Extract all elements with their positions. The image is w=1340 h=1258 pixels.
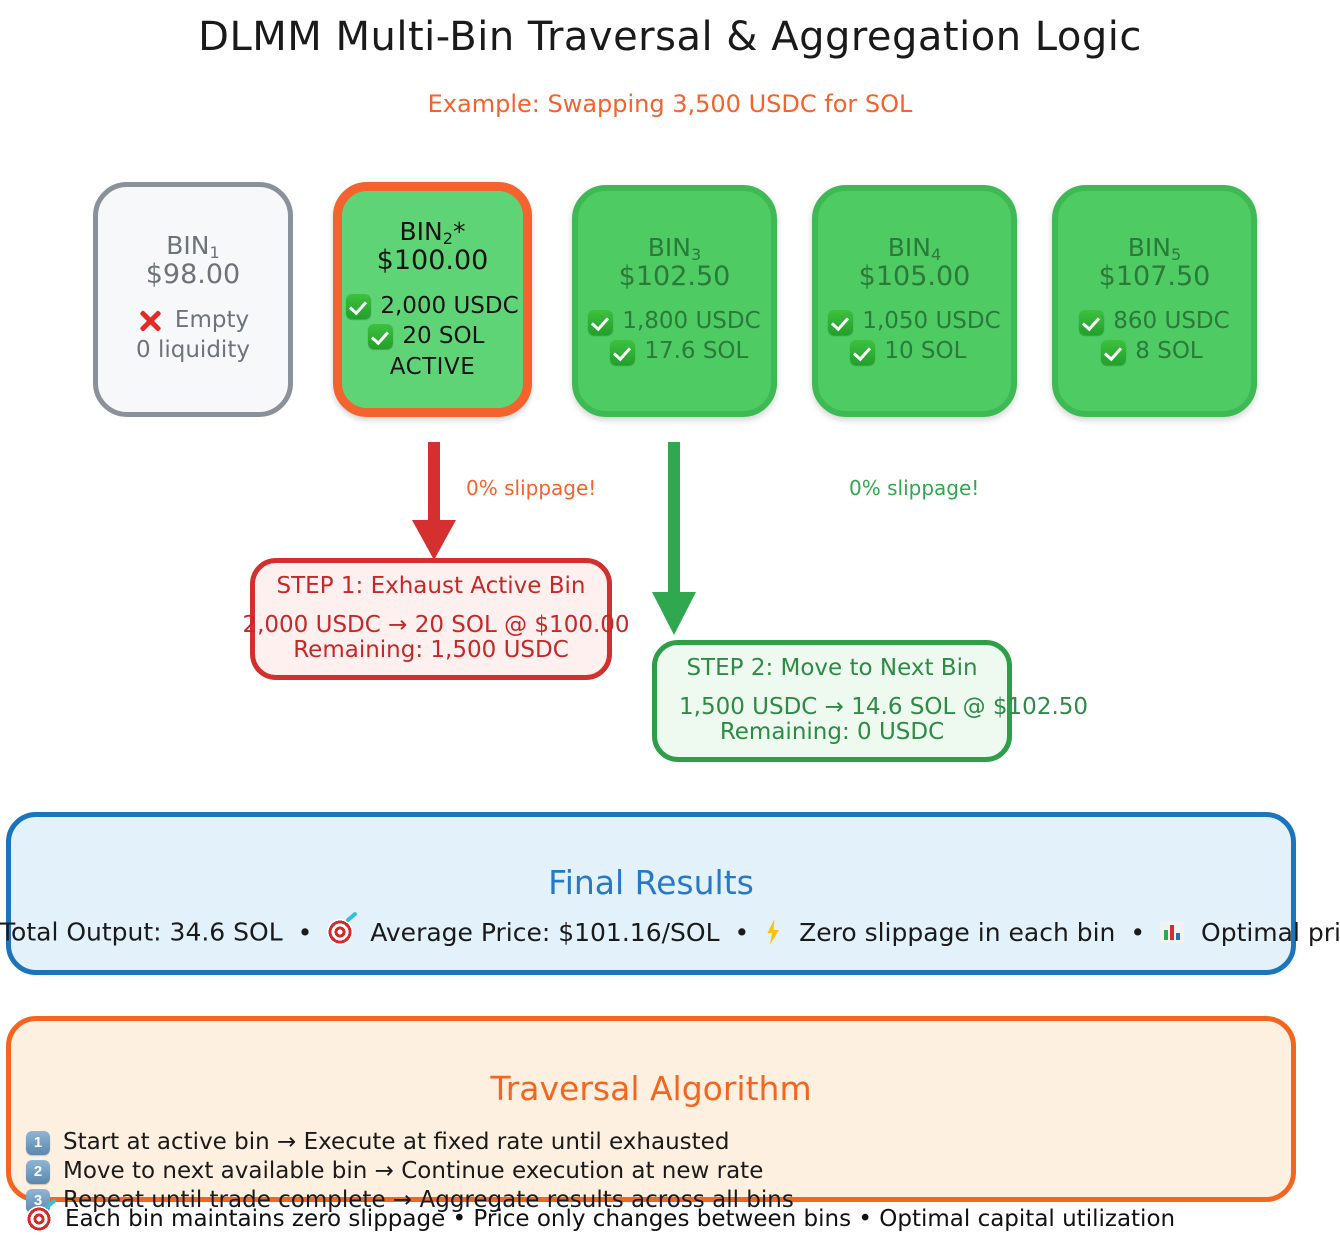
bin-4-row-usdc-label: 1,050 USDC xyxy=(862,307,1000,337)
bin-4-label: BIN4 xyxy=(888,235,941,264)
final-results-panel: Final Results xyxy=(6,812,1296,975)
check-icon xyxy=(850,340,875,365)
check-icon xyxy=(828,310,853,335)
bin-3-row-usdc-label: 1,800 USDC xyxy=(622,307,760,337)
step-1-detail: 2,000 USDC → 20 SOL @ $100.00 xyxy=(229,610,643,642)
bin-card-2[interactable]: BIN2* $100.00 2,000 USDC 20 SOL ACTIVE xyxy=(333,182,532,417)
bin-1-row-liquidity: 0 liquidity xyxy=(136,336,250,366)
step-2-title: STEP 2: Move to Next Bin xyxy=(686,653,977,685)
bin-card-3[interactable]: BIN3 $102.50 1,800 USDC 17.6 SOL xyxy=(572,185,777,417)
bin-3-label: BIN3 xyxy=(648,235,701,264)
traversal-algorithm-footer-label: Each bin maintains zero slippage • Price… xyxy=(65,1206,1175,1232)
bin-3-row-usdc: 1,800 USDC xyxy=(588,307,760,337)
results-separator: • xyxy=(291,918,320,947)
traversal-algorithm-title: Traversal Algorithm xyxy=(11,1069,1291,1108)
results-separator: • xyxy=(1123,918,1152,947)
final-result-average-price: Average Price: $101.16/SOL xyxy=(361,918,719,947)
results-separator: • xyxy=(727,918,756,947)
bin-1-label: BIN1 xyxy=(166,233,219,262)
bin-5-row-usdc: 860 USDC xyxy=(1079,307,1229,337)
bin-5-rows: 860 USDC 8 SOL xyxy=(1079,307,1229,367)
final-results-title: Final Results xyxy=(11,863,1291,902)
bin-3-rows: 1,800 USDC 17.6 SOL xyxy=(588,307,760,367)
bin-3-row-sol: 17.6 SOL xyxy=(588,337,760,367)
step-2-box[interactable]: STEP 2: Move to Next Bin 1,500 USDC → 14… xyxy=(652,640,1012,762)
bin-5-row-sol-label: 8 SOL xyxy=(1135,337,1202,367)
bin-2-status-badge: ACTIVE xyxy=(346,354,518,380)
step-1-box[interactable]: STEP 1: Exhaust Active Bin 2,000 USDC → … xyxy=(250,558,612,680)
bin-1-row-empty: Empty xyxy=(136,306,250,336)
bin-5-row-sol: 8 SOL xyxy=(1079,337,1229,367)
bin-2-row-sol-label: 20 SOL xyxy=(402,322,484,352)
final-results-line: Total Output: 34.6 SOL • Average Price: … xyxy=(0,916,1340,947)
number-badge-2-icon: 2 xyxy=(26,1160,50,1184)
bin-4-row-sol: 10 SOL xyxy=(828,337,1000,367)
final-result-zero-slippage: Zero slippage in each bin xyxy=(790,918,1115,947)
page-subtitle: Example: Swapping 3,500 USDC for SOL xyxy=(0,90,1340,118)
bolt-icon xyxy=(764,919,782,945)
check-icon xyxy=(368,324,393,349)
bin-4-rows: 1,050 USDC 10 SOL xyxy=(828,307,1000,367)
slippage-note-red: 0% slippage! xyxy=(466,476,596,500)
check-icon xyxy=(610,340,635,365)
bin-1-price: $98.00 xyxy=(146,260,240,290)
x-mark-icon xyxy=(137,308,163,334)
step-2-detail: 1,500 USDC → 14.6 SOL @ $102.50 xyxy=(679,692,1079,724)
diagram-canvas: DLMM Multi-Bin Traversal & Aggregation L… xyxy=(0,0,1340,1258)
bin-2-price: $100.00 xyxy=(377,246,489,276)
bin-card-4[interactable]: BIN4 $105.00 1,050 USDC 10 SOL xyxy=(812,185,1017,417)
step-1-title: STEP 1: Exhaust Active Bin xyxy=(277,571,586,603)
bin-2-rows: 2,000 USDC 20 SOL ACTIVE xyxy=(346,292,518,380)
arrow-bin3-to-step2 xyxy=(644,440,704,640)
check-icon xyxy=(1079,310,1104,335)
algorithm-step-1-label: Start at active bin → Execute at fixed r… xyxy=(63,1127,729,1158)
bin-1-row-liquidity-label: 0 liquidity xyxy=(136,336,250,366)
bin-4-row-usdc: 1,050 USDC xyxy=(828,307,1000,337)
traversal-algorithm-list: 1 Start at active bin → Execute at fixed… xyxy=(26,1128,1336,1215)
bin-card-5[interactable]: BIN5 $107.50 860 USDC 8 SOL xyxy=(1052,185,1257,417)
slippage-note-green: 0% slippage! xyxy=(849,476,979,500)
arrow-bin2-to-step1 xyxy=(404,440,464,565)
check-icon xyxy=(1101,340,1126,365)
bin-5-row-usdc-label: 860 USDC xyxy=(1113,307,1229,337)
bin-2-row-usdc-label: 2,000 USDC xyxy=(380,292,518,322)
number-badge-1-icon: 1 xyxy=(26,1131,50,1155)
target-icon xyxy=(26,1206,52,1232)
list-item: 2 Move to next available bin → Continue … xyxy=(26,1157,1336,1186)
traversal-algorithm-footer: Each bin maintains zero slippage • Price… xyxy=(26,1206,1340,1232)
bin-2-row-usdc: 2,000 USDC xyxy=(346,292,518,322)
final-result-total-output: Total Output: 34.6 SOL xyxy=(0,918,283,947)
bin-2-row-sol: 20 SOL xyxy=(346,322,518,352)
bin-3-row-sol-label: 17.6 SOL xyxy=(644,337,748,367)
bar-chart-icon xyxy=(1160,921,1184,943)
target-icon xyxy=(327,919,353,945)
bin-3-price: $102.50 xyxy=(619,262,731,292)
bin-2-label: BIN2* xyxy=(400,219,466,248)
list-item: 1 Start at active bin → Execute at fixed… xyxy=(26,1128,1336,1157)
check-icon xyxy=(588,310,613,335)
page-title: DLMM Multi-Bin Traversal & Aggregation L… xyxy=(0,14,1340,60)
algorithm-step-2-label: Move to next available bin → Continue ex… xyxy=(63,1156,763,1187)
final-result-optimal-execution: Optimal price execution xyxy=(1192,918,1340,947)
bin-5-price: $107.50 xyxy=(1099,262,1211,292)
bin-4-row-sol-label: 10 SOL xyxy=(884,337,966,367)
bin-1-row-empty-label: Empty xyxy=(175,306,249,336)
bin-4-price: $105.00 xyxy=(859,262,971,292)
bin-5-label: BIN5 xyxy=(1128,235,1181,264)
bin-1-rows: Empty 0 liquidity xyxy=(136,306,250,366)
bin-card-1[interactable]: BIN1 $98.00 Empty 0 liquidity xyxy=(93,182,293,417)
check-icon xyxy=(346,294,371,319)
